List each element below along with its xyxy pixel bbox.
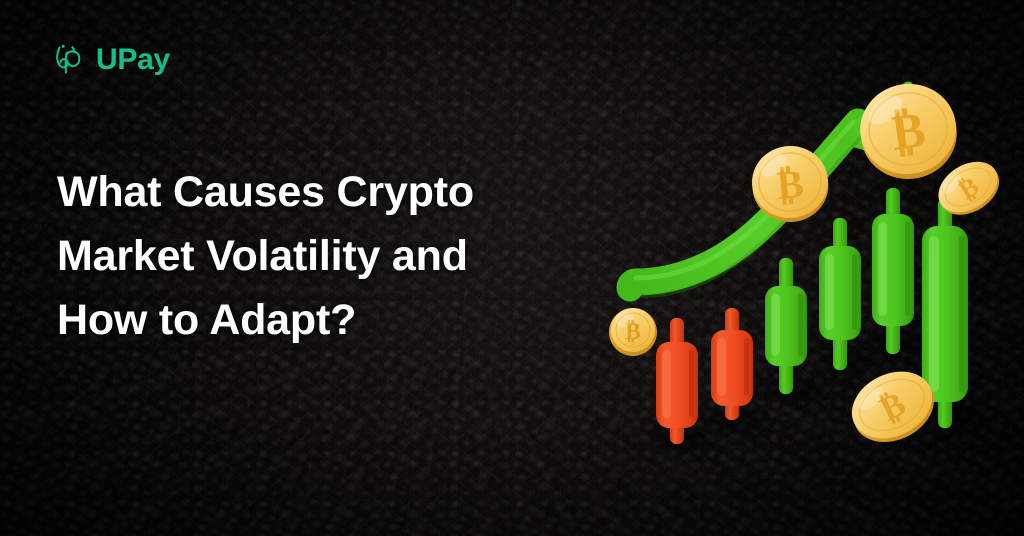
upay-monogram-icon [54, 42, 87, 78]
page-title: What Causes Crypto Market Volatility and… [57, 160, 617, 352]
upay-wordmark: UPay [96, 45, 170, 75]
candlestick-1-bearish [656, 318, 698, 444]
headline-line-1: What Causes Crypto [57, 160, 617, 224]
headline-line-3: How to Adapt? [57, 288, 617, 352]
crypto-candlestick-illustration: ₿ [590, 60, 1020, 470]
candlestick-2-bearish [711, 308, 753, 420]
candlestick-3-bullish [765, 258, 807, 394]
candlestick-5-bullish [872, 188, 914, 354]
bitcoin-coin-large-top: ₿ [854, 78, 962, 185]
candlestick-4-bullish [819, 218, 861, 370]
blog-banner: UPay What Causes Crypto Market Volatilit… [0, 0, 1024, 536]
upay-logo[interactable]: UPay [54, 42, 170, 78]
headline-line-2: Market Volatility and [57, 224, 617, 288]
